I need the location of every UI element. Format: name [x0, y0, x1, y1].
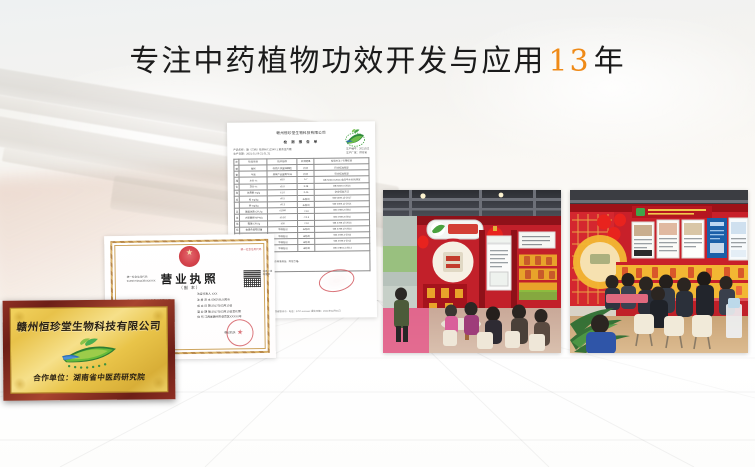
- exhibition-booth-photo-2: [570, 190, 748, 353]
- company-logo-icon: [344, 127, 366, 147]
- booth-photo-1-art: [383, 190, 561, 353]
- plaque-company-name: 赣州恒珍堂生物科技有限公司: [10, 318, 167, 334]
- headline-number: 13: [545, 44, 593, 79]
- report-meta-right-1: 生产厂家：恒珍堂: [346, 151, 369, 155]
- headline-prefix: 专注中药植物功效开发与应用: [129, 44, 545, 79]
- report-meta-left-1: 生产日期：2021.01.06-21.01.31: [233, 152, 291, 157]
- plaque-partner-line: 合作单位：湖南省中医药研究院: [11, 371, 168, 383]
- page-title: 专注中药植物功效开发与应用13年: [0, 36, 755, 80]
- headline-suffix: 年: [594, 44, 626, 79]
- license-credit-code: 统一社会信用代码 91360702MA38XXXXXX: [127, 275, 175, 284]
- license-fields-right: 法定代表人 XXX 注 册 资 本 500万元人民币 成 立 日 期 2017年…: [197, 291, 242, 321]
- license-qr-code: [244, 270, 261, 287]
- license-code-label: 统一社会信用代码: [241, 247, 262, 251]
- license-authority: 登记机关: [224, 330, 235, 334]
- exhibition-booth-photo-1: [383, 190, 561, 353]
- green-field-leaf-logo-icon: [58, 337, 120, 370]
- cooperation-plaque: 赣州恒珍堂生物科技有限公司 合作单位：湖南省中医药研究院: [3, 299, 176, 400]
- slide-canvas: 专注中药植物功效开发与应用13年 赣州恒珍堂生物科技有限公司 检 测 报 告 单…: [0, 0, 755, 467]
- plaque-gold-plate: 赣州恒珍堂生物科技有限公司 合作单位：湖南省中医药研究院: [10, 306, 169, 393]
- booth-photo-2-art: [570, 190, 748, 353]
- report-meta: 产品名称：赣（江西）检测WT12340-1 复合压片糖 生产日期：2021.01…: [233, 147, 369, 156]
- license-qr-label: 扫描二维码查询: [263, 270, 273, 277]
